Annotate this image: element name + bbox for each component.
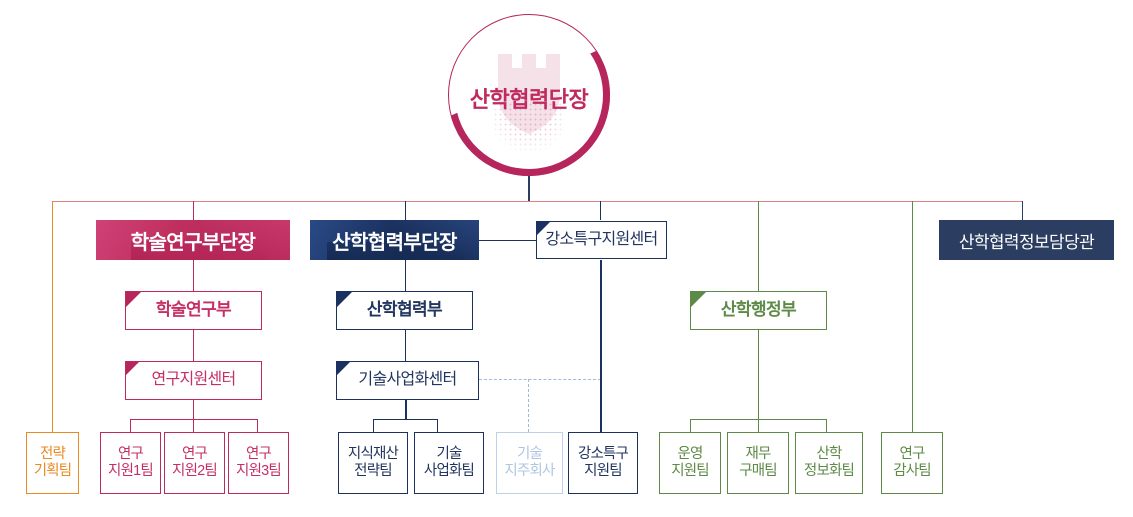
node-operation-support-team[interactable]: 운영 지원팀 bbox=[659, 432, 721, 494]
node-label: 연구 지원2팀 bbox=[172, 446, 217, 480]
node-label: 학술연구부 bbox=[156, 300, 231, 320]
node-label: 연구 지원3팀 bbox=[236, 446, 281, 480]
node-root-director[interactable]: 산학협력단장 bbox=[448, 14, 610, 176]
node-ip-strategy-team[interactable]: 지식재산 전략팀 bbox=[338, 432, 408, 494]
node-industry-cooperation-dept[interactable]: 산학협력부 bbox=[336, 291, 473, 330]
node-research-support-center[interactable]: 연구지원센터 bbox=[125, 361, 262, 400]
node-research-audit-team[interactable]: 연구 감사팀 bbox=[881, 432, 943, 494]
connector-rsc-stem bbox=[193, 400, 194, 419]
node-label: 산학협력부 bbox=[367, 300, 442, 320]
connector-tcc-stem bbox=[405, 400, 407, 419]
node-gangso-support-team[interactable]: 강소특구 지원팀 bbox=[568, 432, 638, 494]
node-label: 재무 구매팀 bbox=[739, 446, 777, 480]
node-label: 기술 지주회사 bbox=[504, 446, 554, 480]
connector-gangso-center-to-team bbox=[600, 260, 602, 432]
node-label: 산학 정보화팀 bbox=[804, 446, 854, 480]
connector-rsc-drop-3 bbox=[257, 419, 258, 432]
corner-accent-triangle bbox=[126, 292, 141, 307]
node-label: 산학행정부 bbox=[721, 300, 796, 320]
connector-dept-to-rsc bbox=[193, 330, 194, 361]
connector-industryvd-to-gangso bbox=[479, 240, 536, 241]
node-label: 연구 감사팀 bbox=[893, 446, 931, 480]
connector-drop-industry-vd bbox=[405, 201, 406, 220]
node-label: 강소특구지원센터 bbox=[545, 231, 657, 250]
node-label: 강소특구 지원팀 bbox=[578, 446, 628, 480]
node-industry-it-team[interactable]: 산학 정보화팀 bbox=[795, 432, 863, 494]
node-label: 기술사업화센터 bbox=[358, 371, 456, 390]
root-label: 산학협력단장 bbox=[448, 82, 610, 114]
node-finance-procurement-team[interactable]: 재무 구매팀 bbox=[727, 432, 789, 494]
connector-tcc-drop-2 bbox=[437, 419, 438, 432]
connector-admin-drop-2 bbox=[758, 419, 759, 432]
connector-academicvd-to-dept bbox=[193, 260, 194, 291]
node-label: 지식재산 전략팀 bbox=[348, 446, 398, 480]
connector-drop-admin-dept bbox=[758, 201, 759, 291]
connector-industryvd-to-dept bbox=[405, 260, 406, 291]
corner-accent-triangle bbox=[126, 362, 139, 375]
connector-drop-gangso-center bbox=[600, 201, 601, 220]
node-tech-commercialization-team[interactable]: 기술 사업화팀 bbox=[414, 432, 484, 494]
connector-rsc-drop-1 bbox=[130, 419, 131, 432]
connector-tcc-drop-1 bbox=[373, 419, 374, 432]
node-label: 연구 지원1팀 bbox=[108, 446, 153, 480]
node-industry-vice-director[interactable]: 산학협력부단장 bbox=[310, 220, 479, 260]
connector-drop-academic-vd bbox=[193, 201, 194, 220]
node-research-support-team-1[interactable]: 연구 지원1팀 bbox=[100, 432, 161, 494]
connector-drop-info-officer bbox=[1022, 201, 1023, 220]
node-label: 산학협력부단장 bbox=[332, 226, 457, 255]
connector-dashed-holding-h bbox=[479, 379, 601, 380]
node-info-officer[interactable]: 산학협력정보담당관 bbox=[939, 220, 1114, 260]
node-research-support-team-2[interactable]: 연구 지원2팀 bbox=[164, 432, 225, 494]
corner-accent-triangle bbox=[337, 292, 352, 307]
connector-drop-strategy bbox=[52, 201, 53, 432]
org-chart-canvas: 산학협력단장 학술연구부단장 산학협력부단장 강소특구지원센터 산학협력정보담당… bbox=[0, 0, 1133, 517]
node-label: 기술 사업화팀 bbox=[424, 446, 474, 480]
node-label: 학술연구부단장 bbox=[131, 226, 256, 255]
connector-drop-audit-team bbox=[912, 201, 913, 432]
connector-root-stem bbox=[528, 176, 530, 202]
node-research-support-team-3[interactable]: 연구 지원3팀 bbox=[228, 432, 289, 494]
node-academic-research-dept[interactable]: 학술연구부 bbox=[125, 291, 262, 330]
node-label: 산학협력정보담당관 bbox=[959, 228, 1094, 253]
corner-accent-triangle bbox=[337, 362, 350, 375]
connector-admin-drop-1 bbox=[690, 419, 691, 432]
node-academic-vice-director[interactable]: 학술연구부단장 bbox=[96, 220, 290, 260]
connector-main-bus-left bbox=[52, 201, 530, 202]
node-label: 연구지원센터 bbox=[151, 371, 235, 390]
connector-dept-to-tcc bbox=[405, 330, 406, 361]
connector-rsc-drop-2 bbox=[193, 419, 194, 432]
node-label: 전략 기획팀 bbox=[34, 446, 72, 480]
connector-admindept-stem bbox=[758, 330, 759, 419]
connector-tcc-bus bbox=[373, 419, 437, 420]
connector-admin-drop-3 bbox=[826, 419, 827, 432]
node-tech-commercialization-center[interactable]: 기술사업화센터 bbox=[336, 361, 479, 400]
node-strategy-planning-team[interactable]: 전략 기획팀 bbox=[26, 432, 79, 494]
corner-accent-triangle bbox=[691, 292, 706, 307]
node-tech-holding-company[interactable]: 기술 지주회사 bbox=[496, 432, 563, 494]
node-gangso-support-center[interactable]: 강소특구지원센터 bbox=[536, 221, 667, 259]
connector-main-bus-right bbox=[528, 201, 1023, 202]
connector-dashed-holding-v bbox=[528, 379, 529, 432]
node-label: 운영 지원팀 bbox=[671, 446, 709, 480]
node-industry-admin-dept[interactable]: 산학행정부 bbox=[690, 291, 827, 330]
